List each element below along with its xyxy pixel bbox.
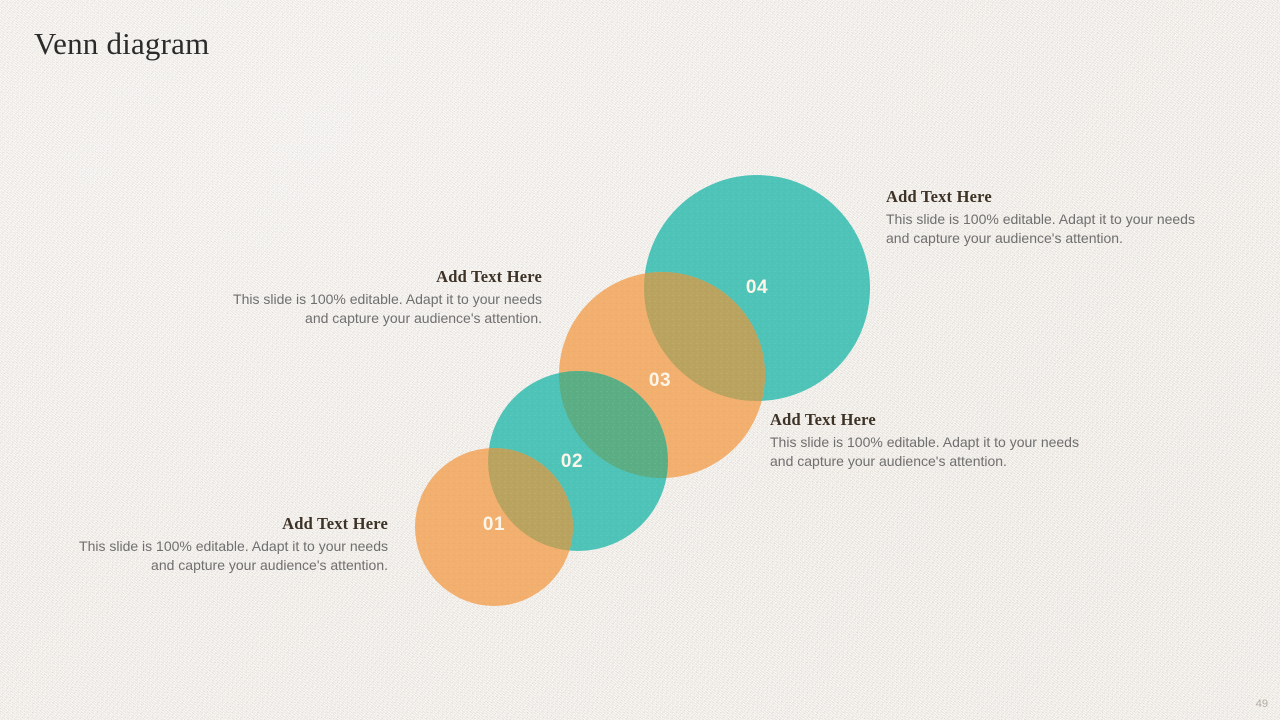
callout-01: Add Text Here This slide is 100% editabl… [58, 513, 388, 575]
callout-03: Add Text Here This slide is 100% editabl… [770, 409, 1100, 471]
slide-canvas: Venn diagram [0, 0, 1280, 720]
callout-02-title: Add Text Here [212, 266, 542, 288]
venn-label-02: 02 [561, 451, 583, 472]
callout-01-body: This slide is 100% editable. Adapt it to… [58, 537, 388, 575]
callout-02-body: This slide is 100% editable. Adapt it to… [212, 290, 542, 328]
callout-04-title: Add Text Here [886, 186, 1216, 208]
venn-label-01: 01 [483, 514, 505, 535]
venn-label-04: 04 [746, 277, 768, 298]
page-number: 49 [1256, 698, 1268, 710]
callout-04-body: This slide is 100% editable. Adapt it to… [886, 210, 1216, 248]
venn-label-03: 03 [649, 370, 671, 391]
callout-03-title: Add Text Here [770, 409, 1100, 431]
callout-01-title: Add Text Here [58, 513, 388, 535]
callout-03-body: This slide is 100% editable. Adapt it to… [770, 433, 1100, 471]
callout-04: Add Text Here This slide is 100% editabl… [886, 186, 1216, 248]
venn-diagram: 04 03 02 01 [0, 0, 1280, 720]
callout-02: Add Text Here This slide is 100% editabl… [212, 266, 542, 328]
